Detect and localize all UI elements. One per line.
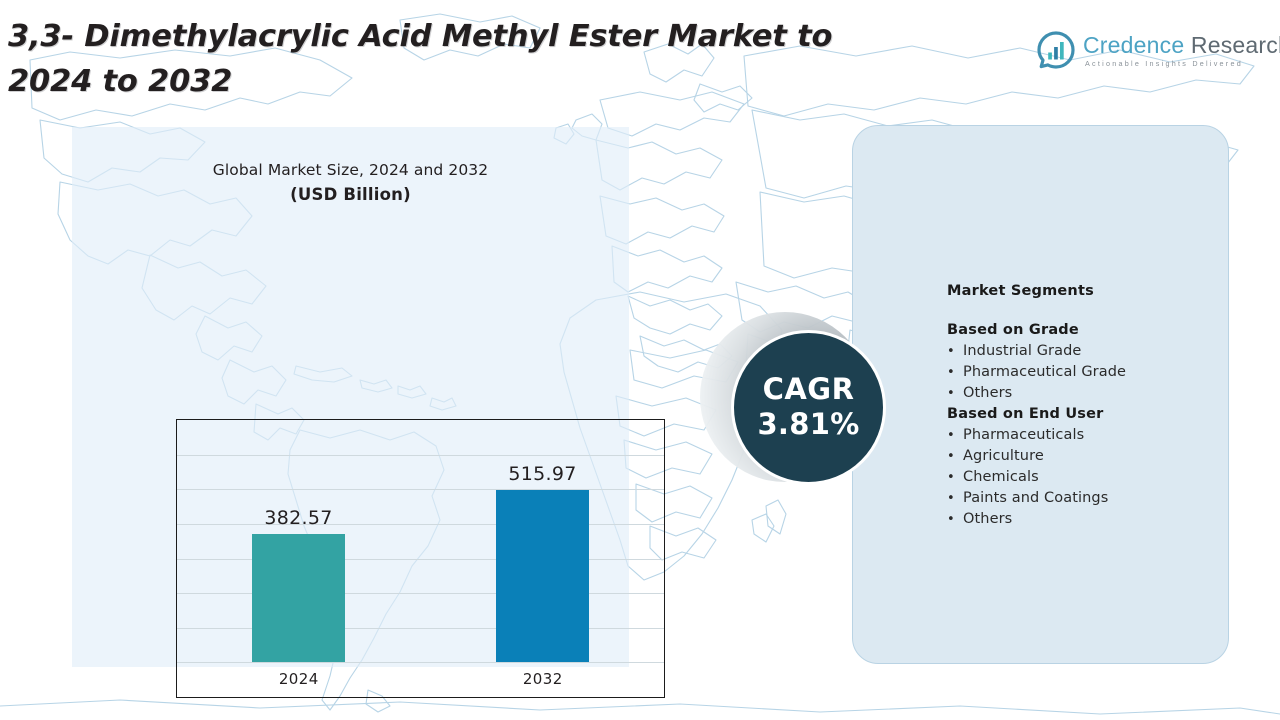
segment-list-item: •Agriculture bbox=[947, 446, 1247, 467]
logo-word-research: Research bbox=[1191, 32, 1280, 58]
segment-group-title: Based on End User bbox=[947, 404, 1247, 425]
bar-value-label: 515.97 bbox=[508, 462, 576, 486]
segment-item-label: Others bbox=[963, 509, 1012, 529]
page-title-line-1: 3,3- Dimethylacrylic Acid Methyl Ester M… bbox=[8, 14, 1018, 59]
market-segments-content: Market Segments Based on Grade•Industria… bbox=[947, 281, 1247, 530]
infographic-canvas: 3,3- Dimethylacrylic Acid Methyl Ester M… bbox=[0, 0, 1280, 720]
bullet-icon: • bbox=[947, 510, 963, 530]
segment-item-label: Agriculture bbox=[963, 446, 1044, 466]
bar-rect bbox=[252, 534, 345, 662]
logo-wordmark: Credence Research Actionable Insights De… bbox=[1083, 32, 1280, 69]
bar-value-label: 382.57 bbox=[264, 506, 332, 530]
chart-title: Global Market Size, 2024 and 2032 (USD B… bbox=[72, 158, 629, 208]
logo-word-credence: Credence bbox=[1083, 32, 1184, 58]
segment-item-label: Others bbox=[963, 383, 1012, 403]
segment-list-item: •Others bbox=[947, 509, 1247, 530]
bullet-icon: • bbox=[947, 384, 963, 404]
chart-plot-area: 382.572024515.972032 bbox=[177, 420, 664, 697]
market-segments-groups: Based on Grade•Industrial Grade•Pharmace… bbox=[947, 320, 1247, 530]
cagr-circle: CAGR 3.81% bbox=[731, 330, 886, 485]
segment-item-label: Paints and Coatings bbox=[963, 488, 1108, 508]
market-segments-panel: Market Segments Based on Grade•Industria… bbox=[852, 125, 1229, 664]
segment-list-item: •Paints and Coatings bbox=[947, 488, 1247, 509]
bar-2032[interactable]: 515.97 bbox=[496, 462, 589, 662]
page-title-line-2: 2024 to 2032 bbox=[8, 59, 1018, 104]
segment-group-title: Based on Grade bbox=[947, 320, 1247, 341]
bullet-icon: • bbox=[947, 426, 963, 446]
logo-tagline: Actionable Insights Delivered bbox=[1083, 58, 1280, 69]
market-segments-heading: Market Segments bbox=[947, 281, 1247, 301]
page-title: 3,3- Dimethylacrylic Acid Methyl Ester M… bbox=[8, 14, 1018, 104]
segment-list-item: •Pharmaceutical Grade bbox=[947, 362, 1247, 383]
segment-list-item: •Pharmaceuticals bbox=[947, 425, 1247, 446]
logo-brand-name: Credence Research bbox=[1083, 33, 1280, 58]
x-axis-label-2032: 2032 bbox=[421, 668, 665, 690]
bullet-icon: • bbox=[947, 363, 963, 383]
bullet-icon: • bbox=[947, 489, 963, 509]
bar-rect bbox=[496, 490, 589, 662]
bullet-icon: • bbox=[947, 447, 963, 467]
bullet-icon: • bbox=[947, 468, 963, 488]
x-axis-label-2024: 2024 bbox=[177, 668, 421, 690]
credence-research-logo[interactable]: Credence Research Actionable Insights De… bbox=[1036, 26, 1251, 74]
cagr-label: CAGR bbox=[763, 373, 855, 406]
bullet-icon: • bbox=[947, 342, 963, 362]
cagr-badge: CAGR 3.81% bbox=[700, 312, 900, 492]
chart-title-line-1: Global Market Size, 2024 and 2032 bbox=[72, 158, 629, 182]
market-size-chart-panel: Global Market Size, 2024 and 2032 (USD B… bbox=[72, 127, 629, 667]
segment-list-item: •Chemicals bbox=[947, 467, 1247, 488]
segment-item-label: Industrial Grade bbox=[963, 341, 1081, 361]
cagr-value: 3.81% bbox=[757, 406, 859, 442]
segment-list-item: •Others bbox=[947, 383, 1247, 404]
bar-2024[interactable]: 382.57 bbox=[252, 506, 345, 662]
segment-item-label: Chemicals bbox=[963, 467, 1039, 487]
chart-title-line-2: (USD Billion) bbox=[72, 182, 629, 208]
bar-chart: 382.572024515.972032 bbox=[176, 419, 665, 698]
bar-chart-bubble-icon bbox=[1036, 30, 1076, 70]
segment-item-label: Pharmaceutical Grade bbox=[963, 362, 1126, 382]
segment-item-label: Pharmaceuticals bbox=[963, 425, 1084, 445]
segment-list-item: •Industrial Grade bbox=[947, 341, 1247, 362]
